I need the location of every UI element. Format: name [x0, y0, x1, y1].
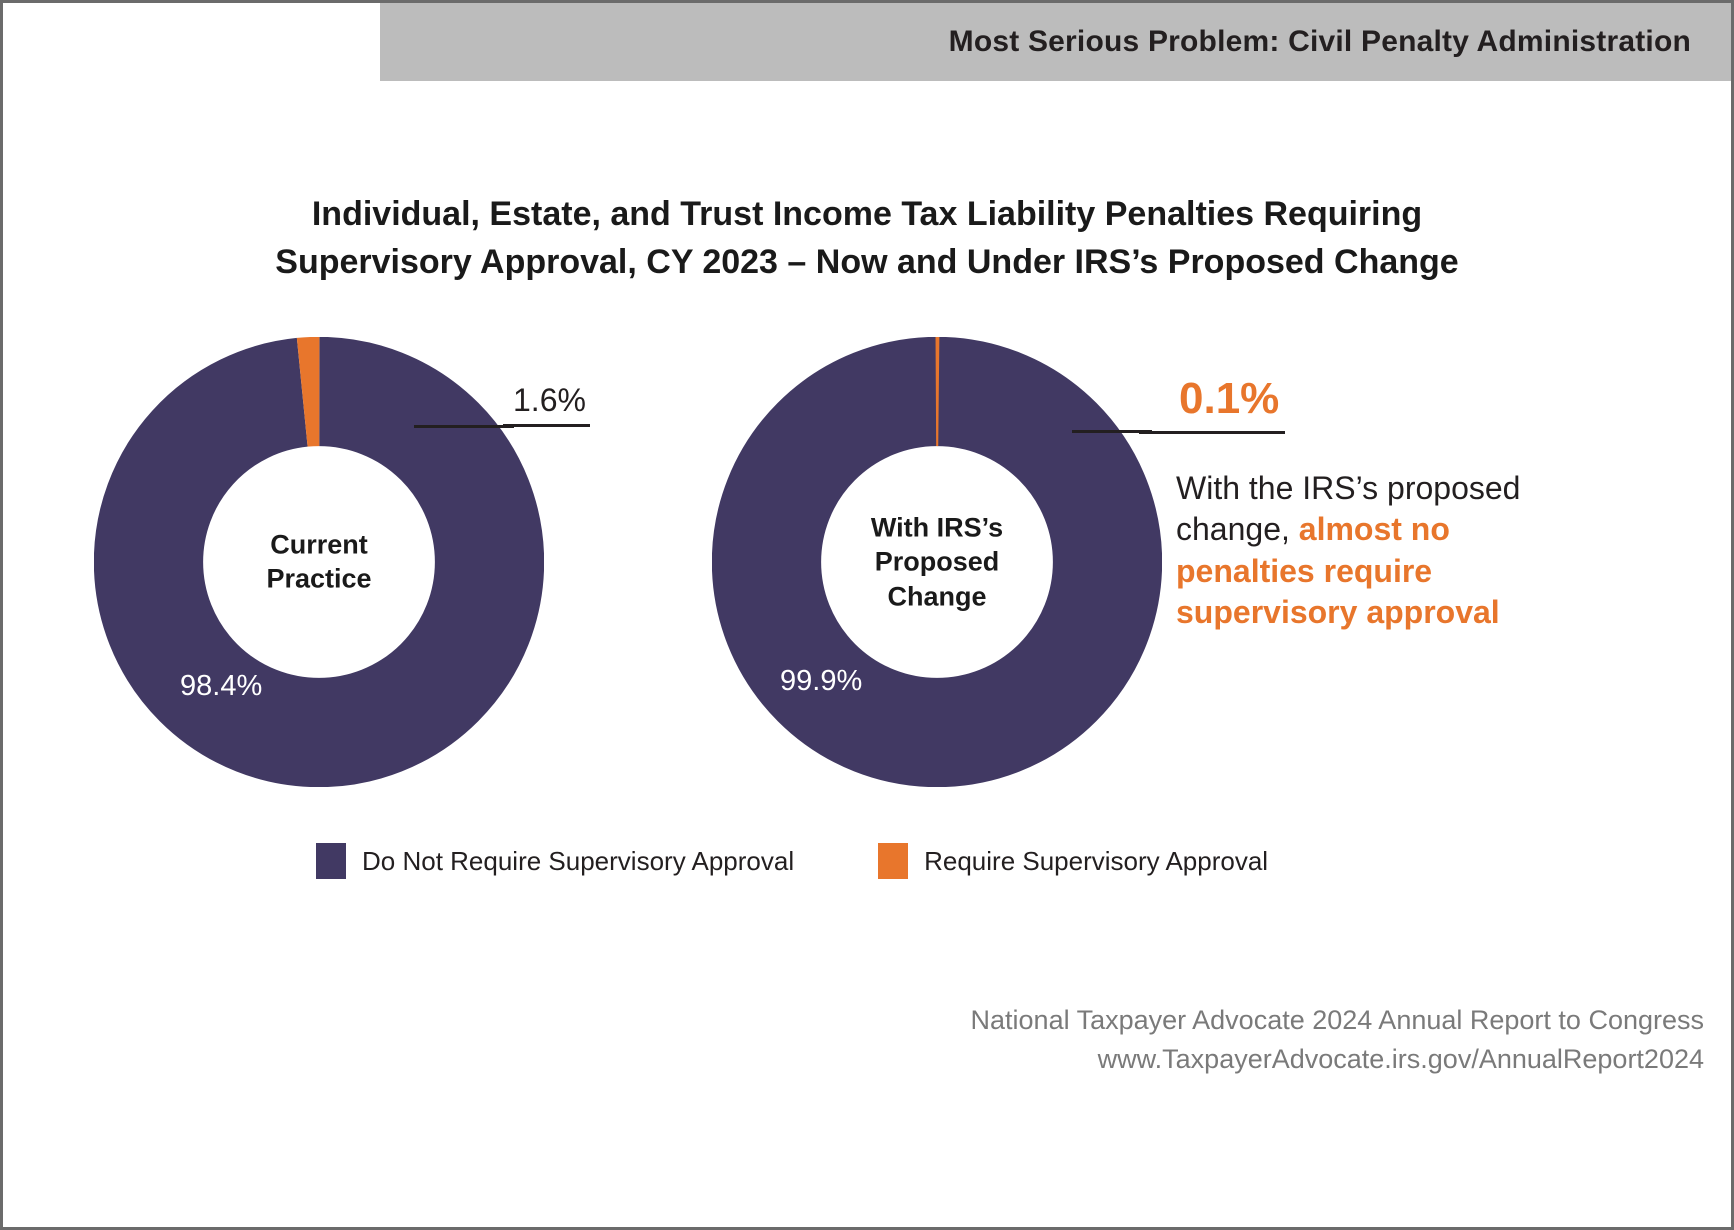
footer-line-2: www.TaxpayerAdvocate.irs.gov/AnnualRepor… [971, 1040, 1704, 1078]
legend-item-require-approval: Require Supervisory Approval [878, 843, 1268, 879]
legend-label-no-approval: Do Not Require Supervisory Approval [362, 846, 794, 877]
legend-swatch-purple [316, 843, 346, 879]
annotation-text: With the IRS’s proposed change, almost n… [1176, 468, 1526, 633]
header-band: Most Serious Problem: Civil Penalty Admi… [380, 3, 1731, 81]
donut-chart-current-practice: Current Practice 98.4% [94, 337, 544, 787]
donut-chart-proposed-change: With IRS’s Proposed Change 99.9% [712, 337, 1162, 787]
donut-1-callout-value: 1.6% [503, 382, 590, 427]
footer-line-1: National Taxpayer Advocate 2024 Annual R… [971, 1001, 1704, 1039]
donut-1-leader-line [414, 425, 514, 428]
legend-swatch-orange [878, 843, 908, 879]
chart-title-line-1: Individual, Estate, and Trust Income Tax… [107, 190, 1627, 238]
annotation-highlight-3: approval [1366, 594, 1499, 630]
legend-label-require-approval: Require Supervisory Approval [924, 846, 1268, 877]
donut-1-callout: 1.6% [503, 382, 590, 427]
chart-legend: Do Not Require Supervisory Approval Requ… [316, 843, 1268, 879]
legend-item-no-approval: Do Not Require Supervisory Approval [316, 843, 794, 879]
donut-2-callout: 0.1% [1139, 374, 1285, 434]
donut-1-svg [94, 337, 544, 787]
chart-title-line-2: Supervisory Approval, CY 2023 – Now and … [107, 238, 1627, 286]
donut-2-callout-value: 0.1% [1139, 374, 1285, 434]
donut-2-svg [712, 337, 1162, 787]
page-title: Individual, Estate, and Trust Income Tax… [107, 190, 1627, 287]
footer: National Taxpayer Advocate 2024 Annual R… [971, 1001, 1704, 1078]
donut-1-major-value: 98.4% [180, 670, 262, 703]
donut-2-major-value: 99.9% [780, 665, 862, 698]
header-title: Most Serious Problem: Civil Penalty Admi… [949, 25, 1691, 59]
annotation-line-1: With the IRS’s [1176, 470, 1378, 506]
